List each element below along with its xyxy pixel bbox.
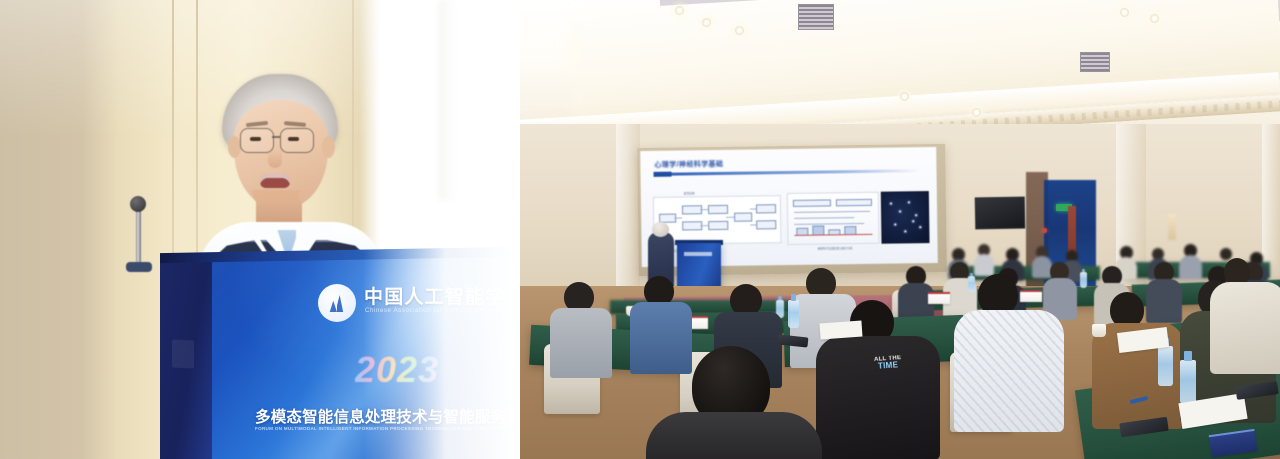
wall-monitor [975, 197, 1026, 230]
hoodie-graphic-line2: TIME [878, 361, 899, 371]
speaker-mouth [260, 174, 290, 188]
stage-lectern-logo [684, 252, 712, 256]
recessed-downlight [1150, 14, 1159, 23]
overexposed-window-glow [363, 0, 513, 459]
speaker-ear-right [322, 136, 335, 158]
photo-collage: 中国人工智能学会 Chinese Association for Artific… [0, 0, 1280, 459]
wall-sconce [1168, 214, 1176, 240]
name-card [1020, 290, 1042, 302]
collage-gutter [513, 0, 520, 459]
microphone-base [126, 262, 152, 272]
recessed-downlight [1120, 8, 1129, 17]
slide-chart-panel [787, 192, 880, 245]
slide-starfield-panel [881, 191, 930, 244]
recessed-downlight [972, 108, 981, 117]
ceiling-air-vent [1080, 52, 1110, 72]
eyeglasses-bridge [272, 136, 280, 138]
slide-title: 心理学/神经科学基础 [654, 159, 723, 170]
water-bottle [968, 276, 975, 292]
right-photo-audience: 心理学/神经科学基础 模型结构 [520, 0, 1280, 459]
recessed-downlight [675, 6, 684, 15]
water-bottle [788, 300, 799, 328]
slide-title-underline [654, 169, 922, 176]
slide-accent-tag [653, 172, 671, 177]
microphone-head [130, 196, 146, 212]
wall-indicator-light [1042, 228, 1047, 233]
caai-logo-icon [318, 284, 356, 322]
speaker-eye-left [250, 137, 261, 141]
presenter-head [652, 222, 669, 237]
tea-cup [1092, 324, 1106, 337]
water-bottle [1158, 346, 1173, 386]
left-photo-speaker: 中国人工智能学会 Chinese Association for Artific… [0, 0, 513, 459]
notepad [819, 321, 862, 340]
podium-side-highlight [172, 340, 194, 369]
recessed-downlight [702, 18, 711, 27]
water-bottle [1080, 272, 1087, 288]
recessed-downlight [900, 92, 909, 101]
name-card [928, 292, 950, 304]
ceiling-air-vent [798, 4, 834, 30]
speaker-eye-right [288, 137, 299, 141]
speaker-nose [268, 148, 282, 168]
recessed-downlight [735, 26, 744, 35]
water-bottle [1180, 360, 1196, 404]
microphone-stem [136, 206, 141, 268]
